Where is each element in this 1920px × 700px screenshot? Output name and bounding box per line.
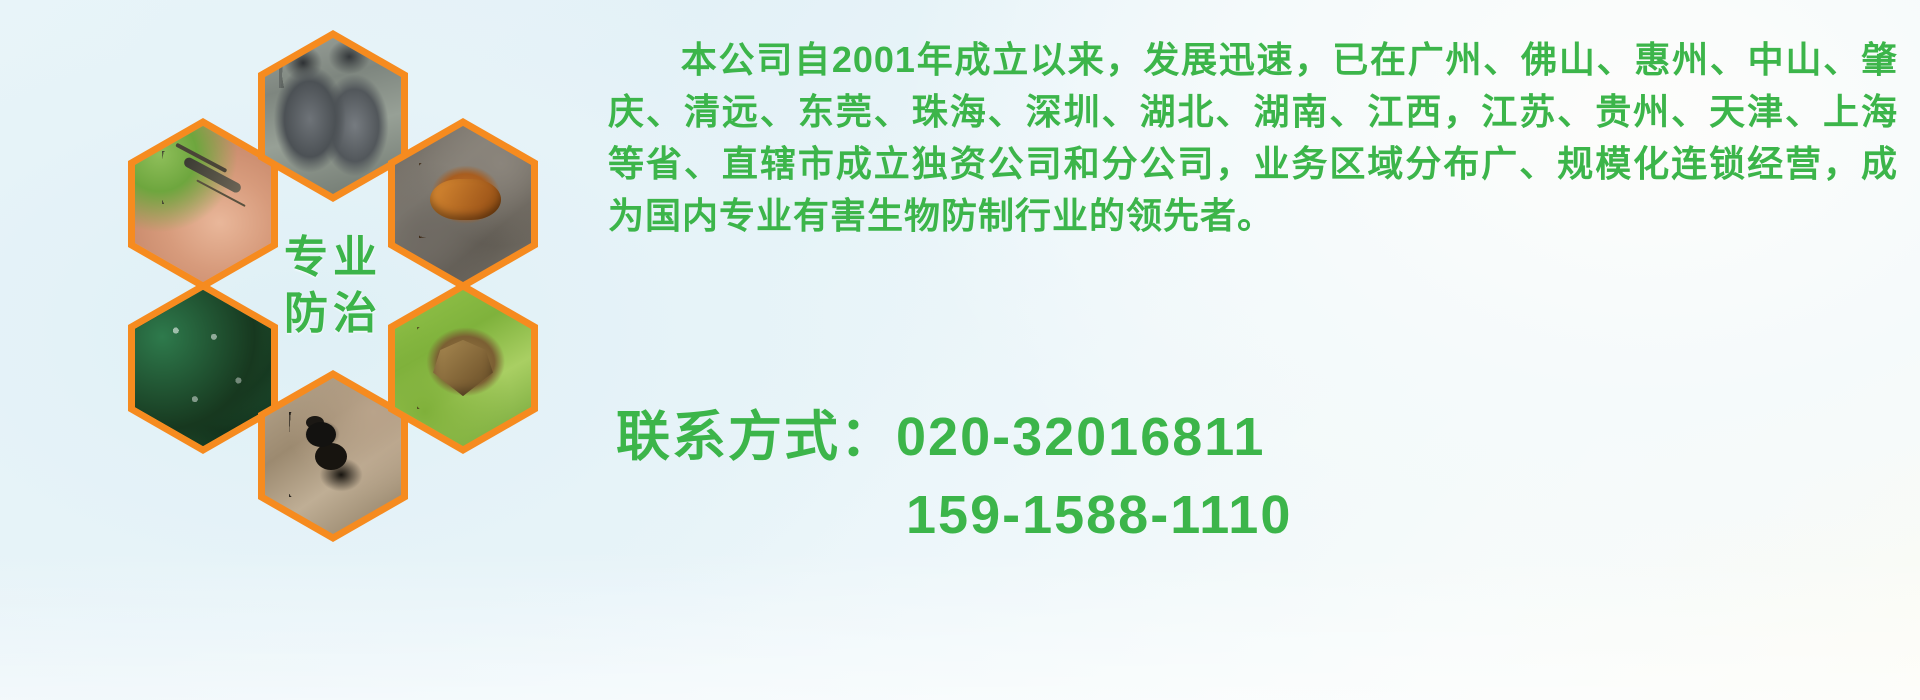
cockroach-icon xyxy=(395,126,531,282)
mosquito-photo xyxy=(128,118,278,290)
contact-phone-primary[interactable]: 020-32016811 xyxy=(896,407,1265,467)
cockroach-photo xyxy=(388,118,538,290)
hex-badge: 专业 防治 xyxy=(258,200,408,372)
contact-secondary-line: 159-1588-1110 xyxy=(616,476,1906,554)
contact-primary-line: 联系方式：020-32016811 xyxy=(616,398,1906,476)
flies-photo xyxy=(128,282,278,454)
promo-banner: 专业 防治 本公司自2001年成立以来，发展迅速，已在广州、佛山、惠州、中山、肇… xyxy=(0,0,1920,700)
stinkbug-photo xyxy=(388,282,538,454)
stinkbug-icon xyxy=(395,290,531,446)
hex-photo-cluster: 专业 防治 xyxy=(90,10,590,570)
ant-photo xyxy=(258,370,408,542)
fly-icon xyxy=(135,290,271,446)
hex-badge-line1: 专业 xyxy=(284,230,382,286)
contact-label: 联系方式： xyxy=(616,407,896,467)
ant-icon xyxy=(265,378,401,534)
rat-icon xyxy=(265,38,401,194)
contact-block: 联系方式：020-32016811 159-1588-1110 xyxy=(616,398,1906,554)
company-intro-block: 本公司自2001年成立以来，发展迅速，已在广州、佛山、惠州、中山、肇庆、清远、东… xyxy=(608,34,1898,242)
hex-badge-line2: 防治 xyxy=(284,286,382,342)
rats-photo xyxy=(258,30,408,202)
paragraph-text: 本公司自2001年成立以来，发展迅速，已在广州、佛山、惠州、中山、肇庆、清远、东… xyxy=(608,39,1898,236)
contact-phone-secondary[interactable]: 159-1588-1110 xyxy=(906,485,1292,545)
mosquito-icon xyxy=(135,126,271,282)
company-intro-paragraph: 本公司自2001年成立以来，发展迅速，已在广州、佛山、惠州、中山、肇庆、清远、东… xyxy=(608,34,1898,242)
